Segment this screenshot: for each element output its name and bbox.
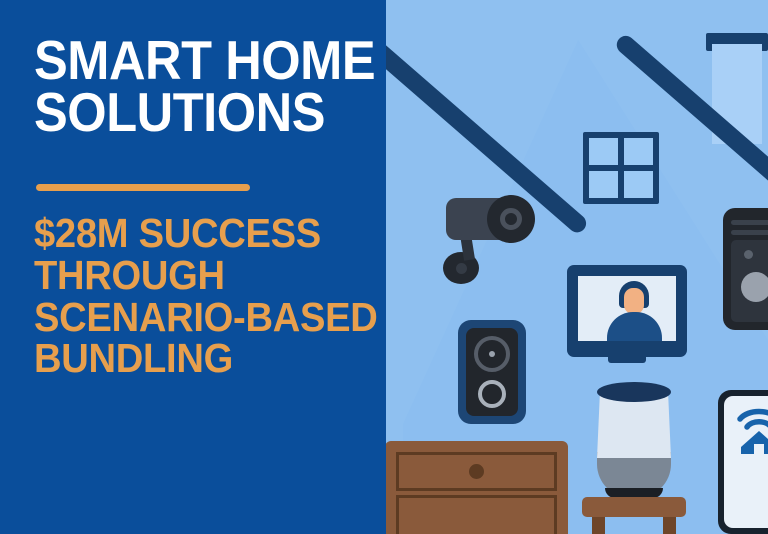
table-leg: [592, 515, 605, 534]
doorbell-sensor-dot: [489, 351, 495, 357]
doorbell-button: [478, 380, 506, 408]
left-text-panel: SMART HOME SOLUTIONS $28M SUCCESS THROUG…: [0, 0, 386, 534]
person-torso: [607, 312, 662, 341]
table-leg: [663, 515, 676, 534]
title-divider: [36, 184, 250, 191]
camera-mount-nub: [456, 263, 467, 274]
smart-home-wifi-icon: [736, 404, 768, 454]
tv-stand: [608, 357, 646, 363]
window-pane: [624, 171, 653, 198]
thermostat-grill: [731, 220, 768, 225]
page-subtitle: $28M SUCCESS THROUGH SCENARIO-BASED BUND…: [34, 213, 406, 380]
speaker-top-surface: [597, 382, 671, 402]
dresser-drawer-bottom: [396, 495, 557, 534]
window-pane: [624, 138, 653, 165]
slide-canvas: SMART HOME SOLUTIONS $28M SUCCESS THROUG…: [0, 0, 768, 534]
thermostat-knob: [741, 272, 768, 302]
camera-lens: [500, 208, 522, 230]
dresser-knob: [469, 464, 484, 479]
page-title: SMART HOME SOLUTIONS: [34, 34, 402, 139]
tv-screen: [578, 276, 676, 341]
house-window: [583, 132, 659, 204]
person-face: [624, 288, 644, 314]
window-pane: [589, 138, 618, 165]
table-top: [582, 497, 686, 517]
thermostat-sensor-dot: [744, 250, 753, 259]
window-pane: [589, 171, 618, 198]
thermostat-grill: [731, 230, 768, 235]
